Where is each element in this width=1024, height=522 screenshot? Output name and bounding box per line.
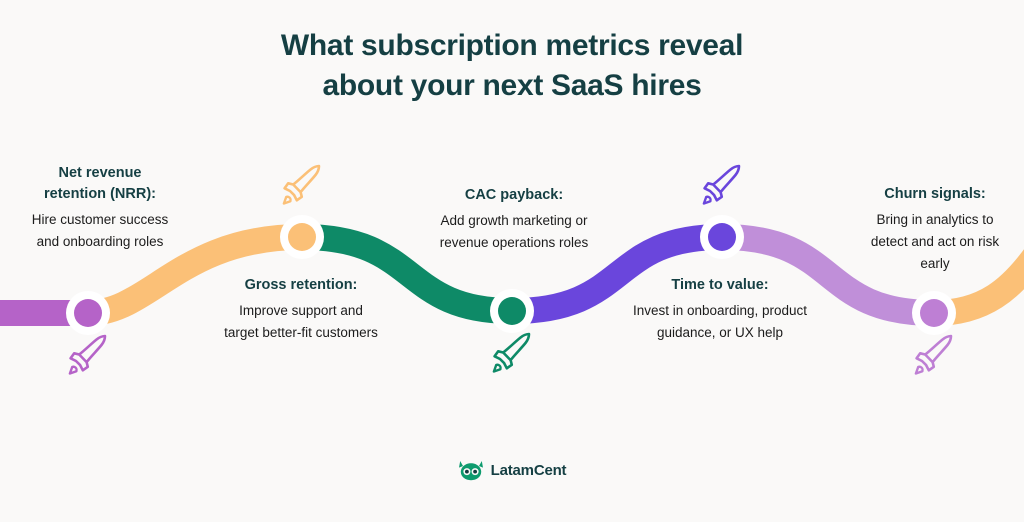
milestone-5-heading: Churn signals: bbox=[846, 184, 1024, 205]
milestone-2-body-line-1: Improve support and bbox=[239, 303, 363, 318]
milestone-4-body-line-1: Invest in onboarding, product bbox=[633, 303, 807, 318]
page-title-line-2: about your next SaaS hires bbox=[0, 66, 1024, 106]
rocket-icon-5 bbox=[916, 336, 951, 374]
milestone-cac-payback: CAC payback: Add growth marketing or rev… bbox=[404, 185, 624, 254]
milestone-5-body-line-2: detect and act on risk bbox=[871, 234, 999, 249]
timeline-node-3[interactable] bbox=[498, 297, 526, 325]
brand-name: LatamCent bbox=[491, 462, 567, 479]
timeline-node-ring-4 bbox=[700, 215, 744, 259]
milestone-gross-retention: Gross retention: Improve support and tar… bbox=[192, 275, 410, 344]
milestone-3-body-line-2: revenue operations roles bbox=[440, 235, 589, 250]
milestone-2-heading: Gross retention: bbox=[192, 275, 410, 296]
milestone-3-body-line-1: Add growth marketing or bbox=[440, 213, 587, 228]
milestone-4-body-line-2: guidance, or UX help bbox=[657, 325, 783, 340]
milestone-2-body: Improve support and target better-fit cu… bbox=[192, 300, 410, 344]
owl-logo-icon bbox=[458, 459, 484, 481]
milestone-3-heading: CAC payback: bbox=[404, 185, 624, 206]
rocket-icon-3 bbox=[494, 334, 529, 372]
milestone-5-body: Bring in analytics to detect and act on … bbox=[846, 209, 1024, 275]
milestone-1-body-line-1: Hire customer success bbox=[32, 212, 169, 227]
milestone-1-heading: Net revenue retention (NRR): bbox=[0, 163, 200, 205]
timeline-node-ring-1 bbox=[66, 291, 110, 335]
milestone-3-body: Add growth marketing or revenue operatio… bbox=[404, 210, 624, 254]
page-title: What subscription metrics reveal about y… bbox=[0, 26, 1024, 106]
rocket-icon-1 bbox=[70, 336, 105, 374]
milestone-time-to-value: Time to value: Invest in onboarding, pro… bbox=[604, 275, 836, 344]
milestone-4-heading: Time to value: bbox=[604, 275, 836, 296]
page-title-line-1: What subscription metrics reveal bbox=[0, 26, 1024, 66]
milestone-net-revenue-retention: Net revenue retention (NRR): Hire custom… bbox=[0, 163, 200, 253]
timeline-node-2[interactable] bbox=[288, 223, 316, 251]
timeline-node-5[interactable] bbox=[920, 299, 948, 327]
timeline-node-1[interactable] bbox=[74, 299, 102, 327]
timeline-node-4[interactable] bbox=[708, 223, 736, 251]
timeline-node-ring-2 bbox=[280, 215, 324, 259]
milestone-5-body-line-1: Bring in analytics to bbox=[876, 212, 993, 227]
rocket-icon-4 bbox=[704, 166, 739, 204]
milestone-churn-signals: Churn signals: Bring in analytics to det… bbox=[846, 184, 1024, 275]
timeline-node-ring-5 bbox=[912, 291, 956, 335]
rocket-icon-2 bbox=[284, 166, 319, 204]
milestone-4-body: Invest in onboarding, product guidance, … bbox=[604, 300, 836, 344]
infographic-canvas: What subscription metrics reveal about y… bbox=[0, 0, 1024, 522]
brand-logo: LatamCent bbox=[0, 459, 1024, 481]
timeline-node-ring-3 bbox=[490, 289, 534, 333]
milestone-2-body-line-2: target better-fit customers bbox=[224, 325, 378, 340]
milestone-1-body-line-2: and onboarding roles bbox=[37, 234, 164, 249]
milestone-1-heading-line-2: retention (NRR): bbox=[44, 186, 156, 202]
milestone-5-body-line-3: early bbox=[920, 256, 949, 271]
milestone-1-heading-line-1: Net revenue bbox=[58, 165, 141, 181]
milestone-1-body: Hire customer success and onboarding rol… bbox=[0, 209, 200, 253]
